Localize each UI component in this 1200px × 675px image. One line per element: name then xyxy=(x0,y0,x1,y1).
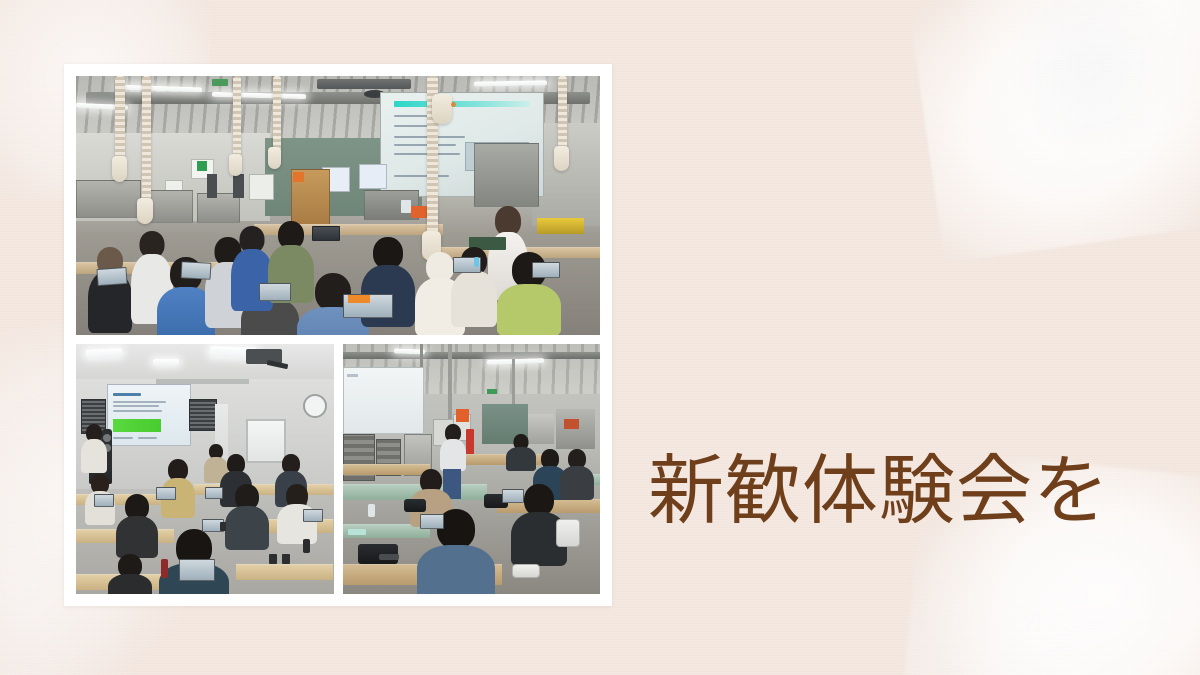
page-title-line-1: 新歓体験会を xyxy=(648,442,1148,540)
photo-collage-card xyxy=(64,64,612,606)
slide-canvas: 新歓体験会を 開催しました xyxy=(0,0,1200,675)
photo-bottom-right-workshop xyxy=(343,344,601,594)
photo-bottom-left-classroom xyxy=(76,344,334,594)
photo-collage xyxy=(76,76,600,594)
watercolor-wash-top-right xyxy=(899,0,1200,263)
watercolor-wash-top-right-2 xyxy=(990,0,1190,170)
photo-top-makerspace-lecture xyxy=(76,76,600,335)
page-title: 新歓体験会を 開催しました xyxy=(648,246,1148,675)
